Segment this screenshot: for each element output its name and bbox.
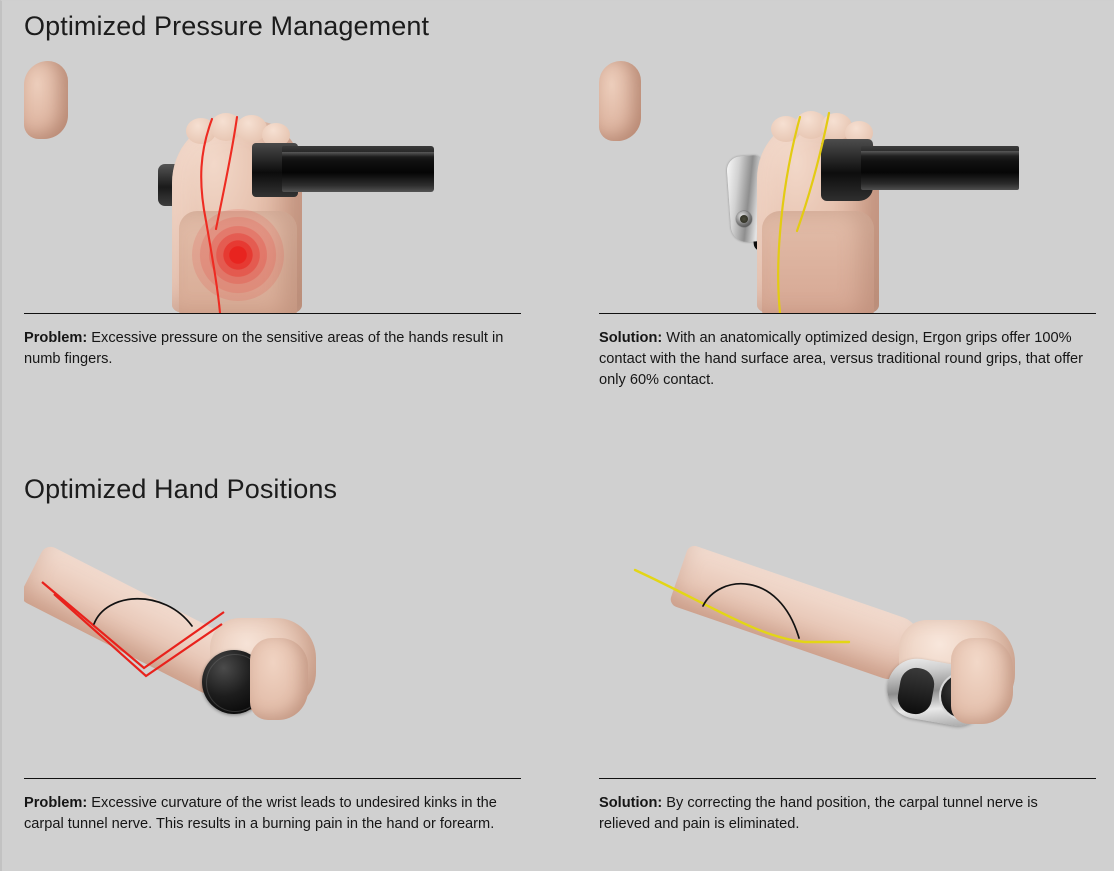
forearm-shape: [762, 211, 874, 313]
caption-text: Excessive pressure on the sensitive area…: [24, 330, 503, 367]
panel-position-problem: Problem: Excessive curvature of the wris…: [24, 526, 521, 835]
panel-divider: [24, 313, 521, 314]
fingers-shape: [250, 638, 308, 720]
figure-fist-on-round-grip: [24, 61, 521, 313]
panel-divider: [599, 313, 1096, 314]
panel-divider: [24, 778, 521, 779]
pain-point-indicator: [192, 209, 284, 301]
infographic-page: Optimized Pressure Management Problem: E…: [0, 0, 1114, 871]
figure-bent-wrist: [24, 526, 521, 778]
caption-label: Problem:: [24, 330, 87, 346]
figure-straight-wrist: [599, 526, 1096, 778]
figure-fist-on-ergonomic-grip: [599, 61, 1096, 313]
clamp-screw-icon: [736, 211, 752, 227]
fingers-shape: [951, 638, 1013, 724]
caption-text: With an anatomically optimized design, E…: [599, 330, 1083, 388]
caption-label: Problem:: [24, 795, 87, 811]
forearm-shape: [669, 544, 926, 686]
section-title-hand-positions: Optimized Hand Positions: [24, 474, 337, 505]
caption-text: By correcting the hand position, the car…: [599, 795, 1038, 832]
panel-pressure-solution: Solution: With an anatomically optimized…: [599, 61, 1096, 391]
caption-label: Solution:: [599, 330, 662, 346]
caption-pressure-solution: Solution: With an anatomically optimized…: [599, 328, 1091, 391]
panel-divider: [599, 778, 1096, 779]
handlebar: [861, 146, 1019, 190]
caption-label: Solution:: [599, 795, 662, 811]
thumb-shape: [599, 61, 641, 141]
section-title-pressure-management: Optimized Pressure Management: [24, 11, 429, 42]
caption-position-solution: Solution: By correcting the hand positio…: [599, 793, 1091, 835]
caption-position-problem: Problem: Excessive curvature of the wris…: [24, 793, 516, 835]
panel-pressure-problem: Problem: Excessive pressure on the sensi…: [24, 61, 521, 370]
caption-text: Excessive curvature of the wrist leads t…: [24, 795, 497, 832]
handlebar: [282, 146, 434, 192]
thumb-shape: [24, 61, 68, 139]
panel-position-solution: Solution: By correcting the hand positio…: [599, 526, 1096, 835]
caption-pressure-problem: Problem: Excessive pressure on the sensi…: [24, 328, 516, 370]
